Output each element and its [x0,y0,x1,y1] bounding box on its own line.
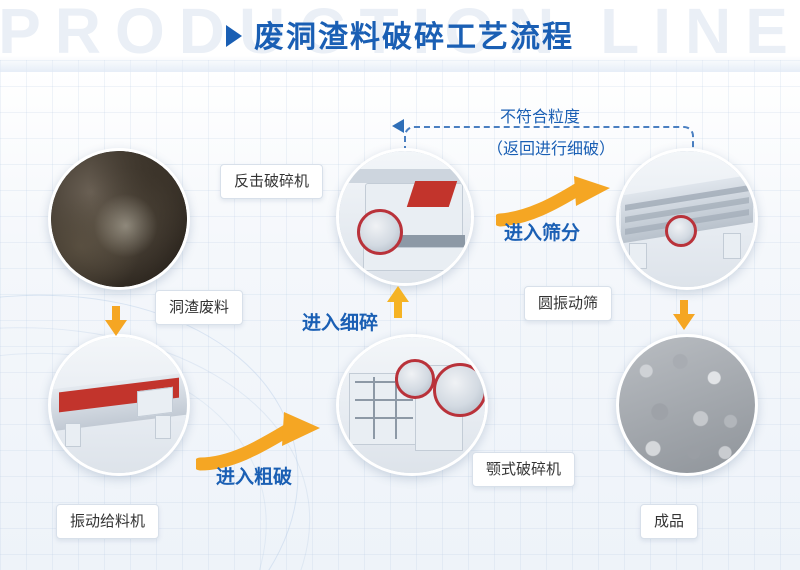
arrow-screen-to-product-icon [673,314,695,330]
arrow-raw-to-feeder-icon [105,320,127,336]
arrow-raw-to-feeder-stem [112,306,120,320]
node-raw-material-label: 洞渣废料 [155,290,243,325]
arrow-jaw-to-impact-stem [394,300,402,318]
node-impact-crusher-photo [336,148,474,286]
node-vibrating-screen-photo [616,148,758,290]
node-jaw-crusher-label: 颚式破碎机 [472,452,575,487]
oversize-note-line1: 不符合粒度 [500,103,580,127]
node-vibrating-feeder-photo [48,334,190,476]
header-title-row: 废洞渣料破碎工艺流程 [0,12,800,56]
step-to-screening-label: 进入筛分 [504,218,580,245]
node-impact-crusher-label: 反击破碎机 [220,164,323,199]
node-jaw-crusher-photo [336,334,488,476]
oversize-note-line2: （返回进行细破） [487,135,615,159]
node-vibrating-screen-label: 圆振动筛 [524,286,612,321]
flowchart-canvas: PRODUCTION LINE 废洞渣料破碎工艺流程 不符合粒度 （返回进行细破… [0,0,800,570]
arrow-screen-to-product-stem [680,300,688,314]
node-finished-product-label: 成品 [640,504,698,539]
node-raw-material-photo [48,148,190,290]
arrow-jaw-to-impact-icon [387,286,409,302]
return-path-arrow-icon [392,119,404,133]
step-to-coarse-crushing-label: 进入粗破 [216,462,292,489]
page-title: 废洞渣料破碎工艺流程 [254,12,574,56]
header-underbar [0,56,800,72]
triangle-right-icon [226,25,242,47]
node-finished-product-photo [616,334,758,476]
header-banner: PRODUCTION LINE 废洞渣料破碎工艺流程 [0,0,800,72]
node-vibrating-feeder-label: 振动给料机 [56,504,159,539]
step-to-fine-crushing-label: 进入细碎 [302,308,378,335]
